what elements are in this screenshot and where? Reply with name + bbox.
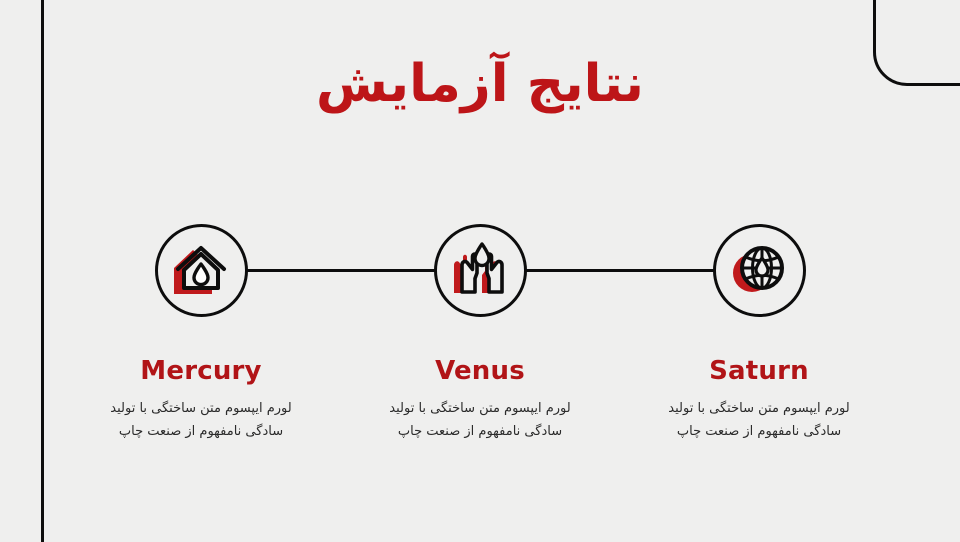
step-icon-circle-mercury [155, 224, 248, 317]
page-title: نتایج آزمایش [0, 52, 960, 117]
house-water-drop-icon [170, 242, 232, 300]
step-description-mercury: لورم ایپسوم متن ساختگی با تولید سادگی نا… [109, 398, 294, 444]
step-item-mercury[interactable]: Mercury لورم ایپسوم متن ساختگی با تولید … [81, 214, 321, 444]
step-label-saturn: Saturn [639, 358, 879, 384]
step-icon-circle-saturn [713, 224, 806, 317]
step-item-saturn[interactable]: Saturn لورم ایپسوم متن ساختگی با تولید س… [639, 214, 879, 444]
step-description-venus: لورم ایپسوم متن ساختگی با تولید سادگی نا… [388, 398, 573, 444]
slide-canvas: نتایج آزمایش Mercury لورم ایپسوم متن ساخ… [0, 0, 960, 540]
step-label-mercury: Mercury [81, 358, 321, 384]
step-description-saturn: لورم ایپسوم متن ساختگی با تولید سادگی نا… [667, 398, 852, 444]
steps-infographic: Mercury لورم ایپسوم متن ساختگی با تولید … [60, 214, 900, 494]
step-item-venus[interactable]: Venus لورم ایپسوم متن ساختگی با تولید سا… [360, 214, 600, 444]
globe-water-drop-icon [729, 243, 789, 299]
hands-holding-water-drop-icon [449, 241, 511, 301]
step-label-venus: Venus [360, 358, 600, 384]
step-icon-circle-venus [434, 224, 527, 317]
